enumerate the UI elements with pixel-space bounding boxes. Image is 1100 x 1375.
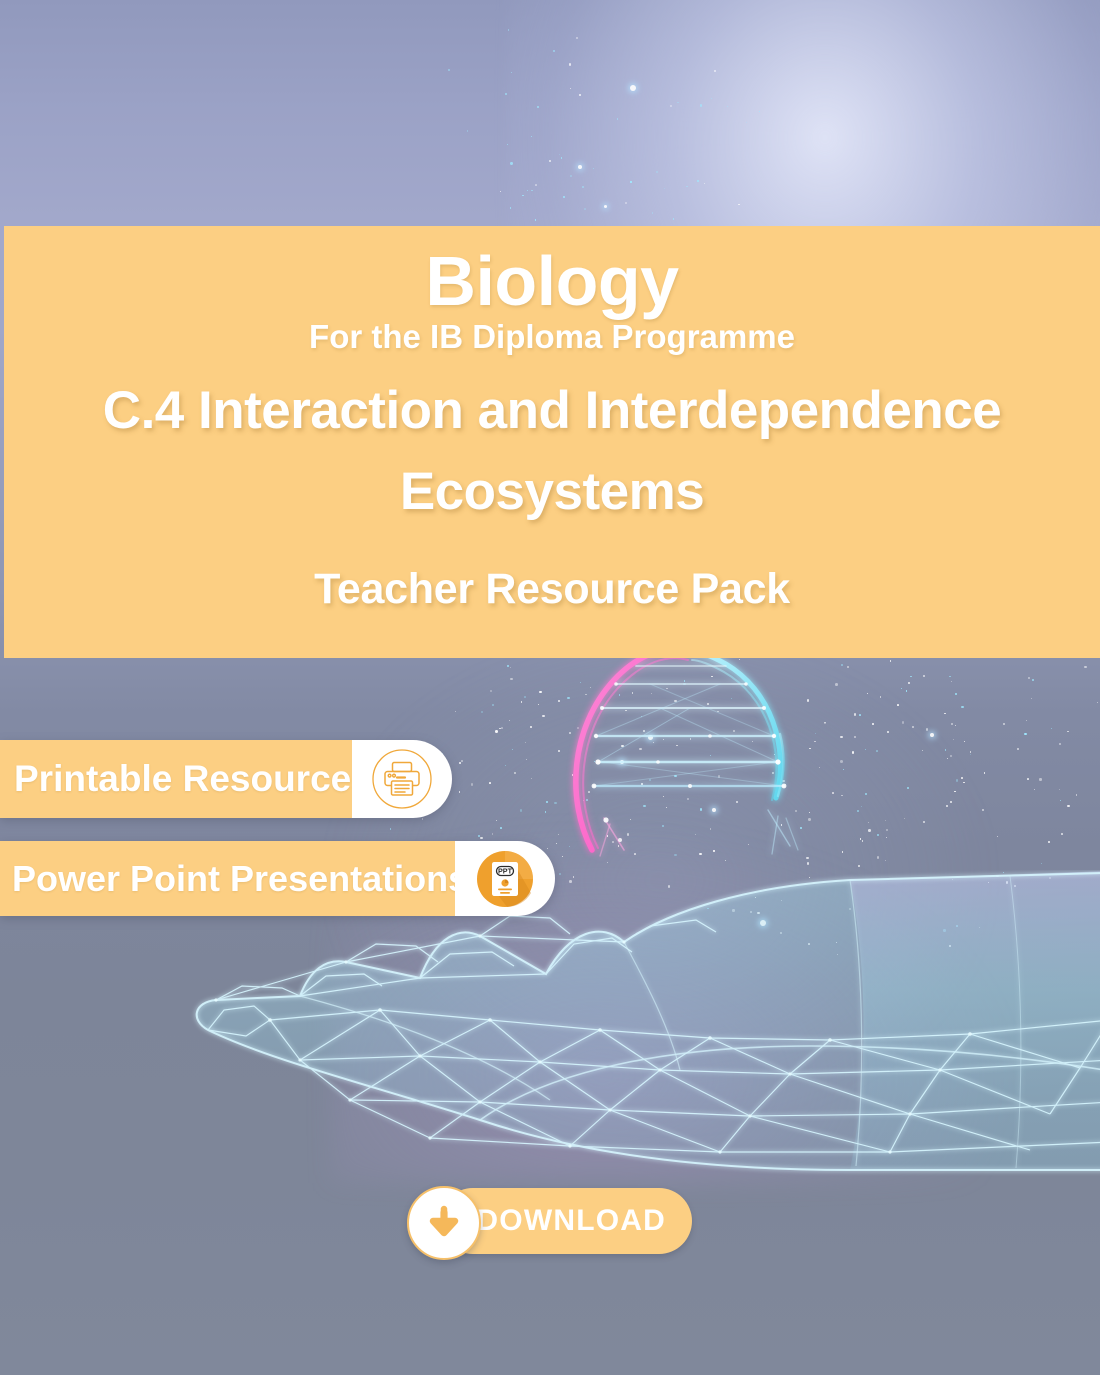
poster-canvas: Biology For the IB Diploma Programme C.4…	[0, 0, 1100, 1375]
download-label: DOWNLOAD	[476, 1204, 666, 1238]
topic-code-line: C.4 Interaction and Interdependence	[16, 382, 1088, 439]
printable-resources-label: Printable Resources	[14, 758, 372, 800]
powerpoint-presentations-label: Power Point Presentations	[12, 858, 468, 900]
powerpoint-presentations-button[interactable]: Power Point Presentations PPT	[0, 841, 555, 916]
ppt-badge-text: PPT	[498, 866, 513, 875]
powerpoint-icon-cap: PPT	[455, 841, 555, 916]
printable-resources-icon-cap	[352, 740, 452, 818]
printer-icon	[371, 748, 433, 810]
powerpoint-file-icon: PPT	[473, 847, 537, 911]
title-banner: Biology For the IB Diploma Programme C.4…	[4, 226, 1100, 658]
printable-resources-body[interactable]: Printable Resources	[0, 740, 352, 818]
pack-type-line: Teacher Resource Pack	[16, 566, 1088, 613]
printable-resources-button[interactable]: Printable Resources	[0, 740, 452, 818]
download-icon-circle[interactable]	[407, 1186, 481, 1260]
programme-line: For the IB Diploma Programme	[16, 319, 1088, 355]
topic-name-line: Ecosystems	[16, 463, 1088, 520]
download-arrow-icon	[424, 1203, 464, 1243]
powerpoint-presentations-body[interactable]: Power Point Presentations	[0, 841, 455, 916]
download-button[interactable]: DOWNLOAD	[407, 1186, 692, 1256]
subject-title: Biology	[16, 246, 1088, 317]
starfield-particles	[0, 0, 1100, 1375]
